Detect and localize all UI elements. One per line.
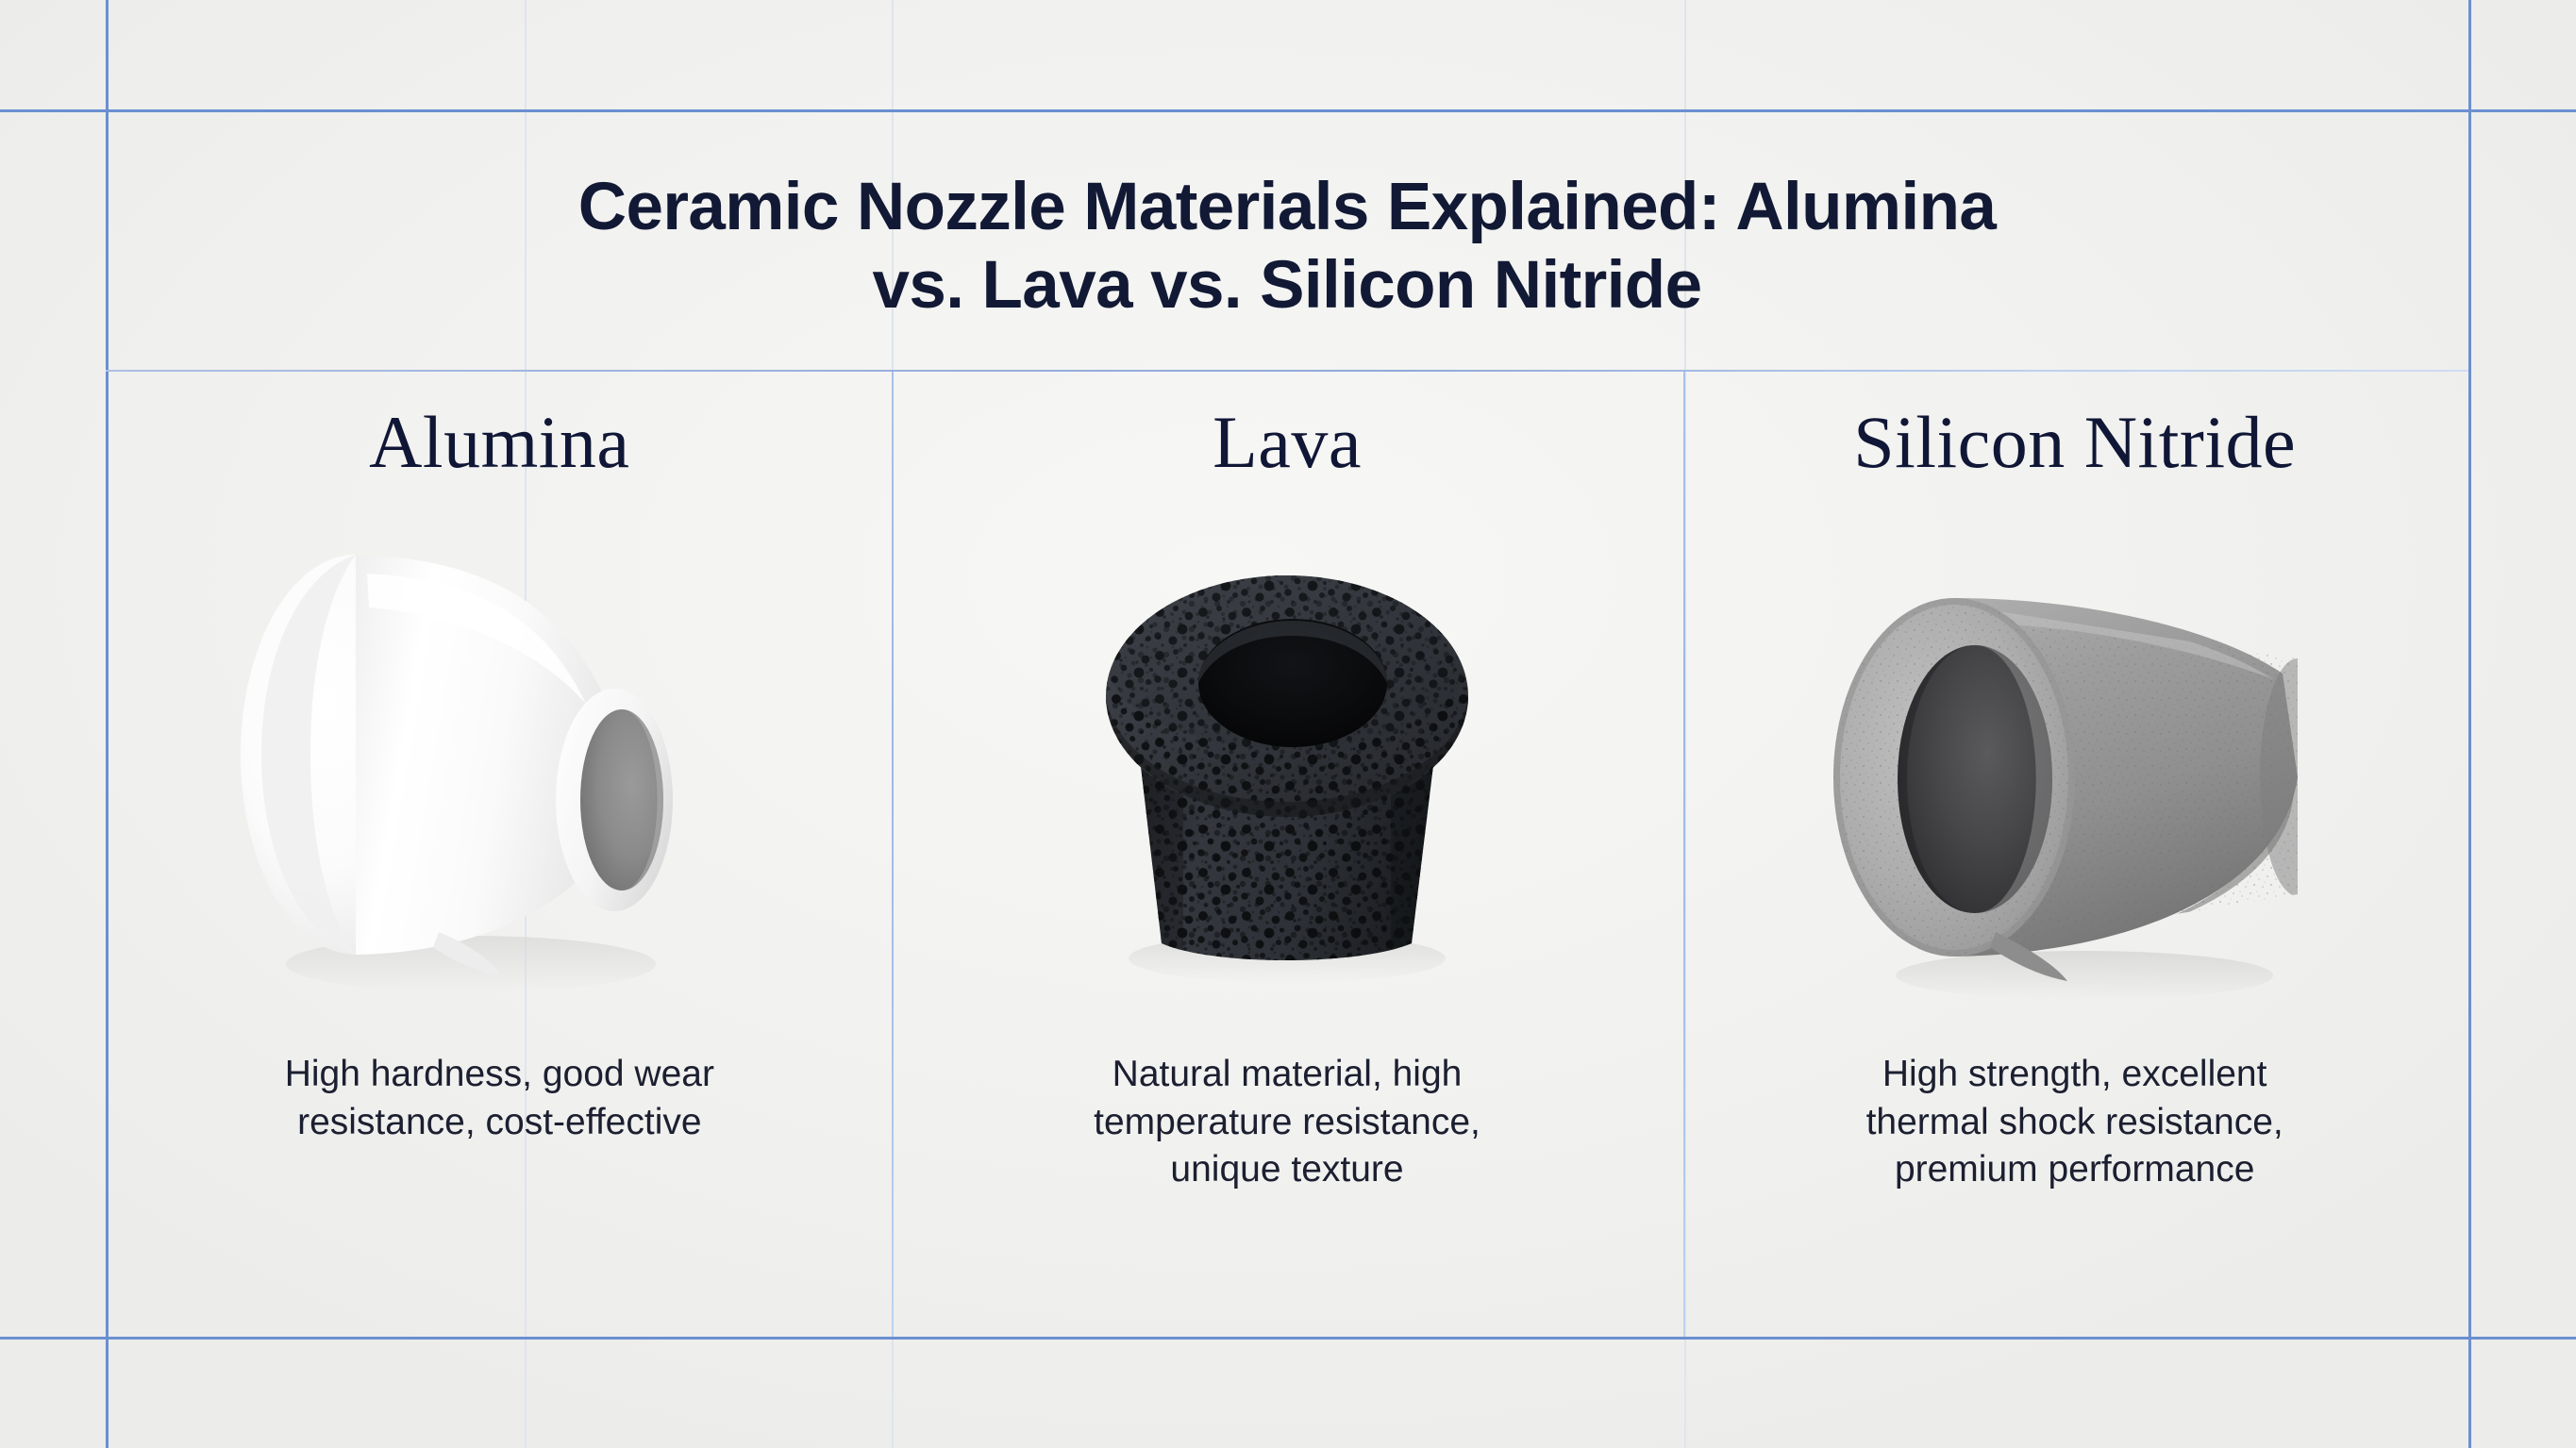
lava-nozzle-image xyxy=(894,517,1681,1045)
alumina-nozzle-image xyxy=(106,517,894,1045)
column-caption-silicon-nitride: High strength, excellent thermal shock r… xyxy=(1866,1051,2283,1194)
grid-line-right xyxy=(2468,0,2471,1448)
caption-line: resistance, cost-effective xyxy=(285,1099,714,1147)
column-lava[interactable]: Lava xyxy=(894,372,1681,1337)
column-heading-alumina: Alumina xyxy=(369,406,629,479)
caption-line: temperature resistance, xyxy=(1094,1099,1480,1147)
column-caption-lava: Natural material, high temperature resis… xyxy=(1094,1051,1480,1194)
column-alumina[interactable]: Alumina xyxy=(106,372,894,1337)
title-line-2: vs. Lava vs. Silicon Nitride xyxy=(873,246,1702,325)
material-columns: Alumina xyxy=(106,372,2468,1337)
column-heading-silicon-nitride: Silicon Nitride xyxy=(1853,406,2296,479)
grid-line-bottom xyxy=(0,1337,2576,1340)
column-silicon-nitride[interactable]: Silicon Nitride xyxy=(1681,372,2468,1337)
caption-line: High hardness, good wear xyxy=(285,1051,714,1099)
silicon-nitride-nozzle-image xyxy=(1681,517,2468,1045)
column-heading-lava: Lava xyxy=(1213,406,1362,479)
caption-line: unique texture xyxy=(1094,1146,1480,1194)
page-title: Ceramic Nozzle Materials Explained: Alum… xyxy=(106,109,2468,370)
caption-line: High strength, excellent xyxy=(1866,1051,2283,1099)
caption-line: thermal shock resistance, xyxy=(1866,1099,2283,1147)
column-caption-alumina: High hardness, good wear resistance, cos… xyxy=(285,1051,714,1146)
title-line-1: Ceramic Nozzle Materials Explained: Alum… xyxy=(578,168,1996,246)
infographic-canvas: Ceramic Nozzle Materials Explained: Alum… xyxy=(0,0,2576,1448)
content-panel: Ceramic Nozzle Materials Explained: Alum… xyxy=(106,109,2468,1337)
caption-line: premium performance xyxy=(1866,1146,2283,1194)
caption-line: Natural material, high xyxy=(1094,1051,1480,1099)
